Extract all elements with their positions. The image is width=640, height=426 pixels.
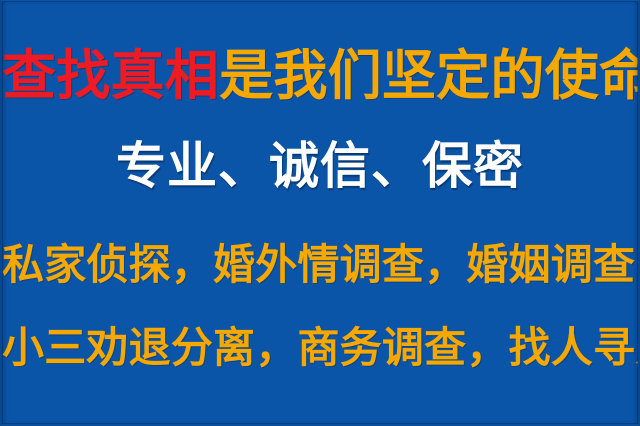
banner-services-line-1: 私家侦探，婚外情调查，婚姻调查， (2, 244, 638, 286)
advertising-banner: 查找真相是我们坚定的使命 专业、诚信、保密 私家侦探，婚外情调查，婚姻调查， 小… (0, 0, 640, 426)
headline-highlight-text: 查找真相 (2, 44, 219, 107)
headline-rest-text: 是我们坚定的使命 (219, 44, 640, 107)
banner-headline: 查找真相是我们坚定的使命 (2, 49, 638, 103)
banner-values-line: 专业、诚信、保密 (2, 141, 638, 191)
banner-services-line-2: 小三劝退分离，商务调查，找人寻人 (2, 327, 638, 369)
